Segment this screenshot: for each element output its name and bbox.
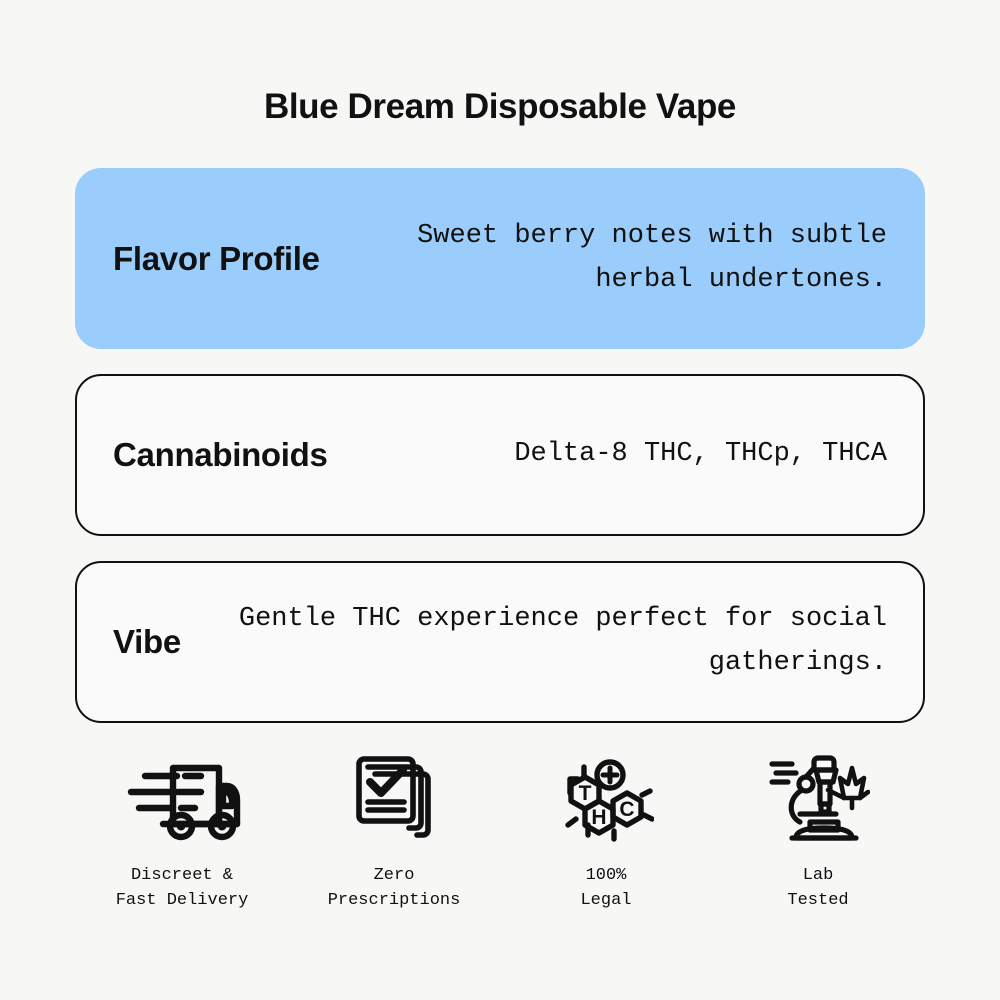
thc-molecule-icon: T H C [558,752,654,844]
spec-card-list: Flavor Profile Sweet berry notes with su… [75,168,925,723]
trust-badge-prescriptions: Zero Prescriptions [288,752,500,913]
trust-badge-delivery: Discreet & Fast Delivery [76,752,288,913]
product-info-card: Blue Dream Disposable Vape Flavor Profil… [0,0,1000,1000]
microscope-leaf-icon [766,752,870,844]
spec-label: Flavor Profile [113,240,320,278]
spec-label: Cannabinoids [113,436,328,474]
spec-card-vibe: Vibe Gentle THC experience perfect for s… [75,561,925,723]
delivery-truck-icon [123,752,241,844]
spec-card-flavor-profile: Flavor Profile Sweet berry notes with su… [75,168,925,349]
trust-badge-label: 100% Legal [580,864,631,913]
spec-card-cannabinoids: Cannabinoids Delta-8 THC, THCp, THCA [75,374,925,536]
trust-badge-lab-tested: Lab Tested [712,752,924,913]
svg-text:T: T [579,782,592,805]
trust-badge-legal: T H C 100% Legal [500,752,712,913]
svg-text:C: C [619,798,634,821]
documents-check-icon [349,752,439,844]
trust-badge-row: Discreet & Fast Delivery [76,752,924,913]
spec-value: Gentle THC experience perfect for social… [181,598,887,685]
spec-value: Sweet berry notes with subtle herbal und… [320,215,887,302]
trust-badge-label: Lab Tested [787,864,848,913]
svg-text:H: H [591,806,606,829]
spec-label: Vibe [113,623,181,661]
trust-badge-label: Zero Prescriptions [328,864,461,913]
page-title: Blue Dream Disposable Vape [0,86,1000,128]
trust-badge-label: Discreet & Fast Delivery [116,864,249,913]
spec-value: Delta-8 THC, THCp, THCA [328,433,887,477]
